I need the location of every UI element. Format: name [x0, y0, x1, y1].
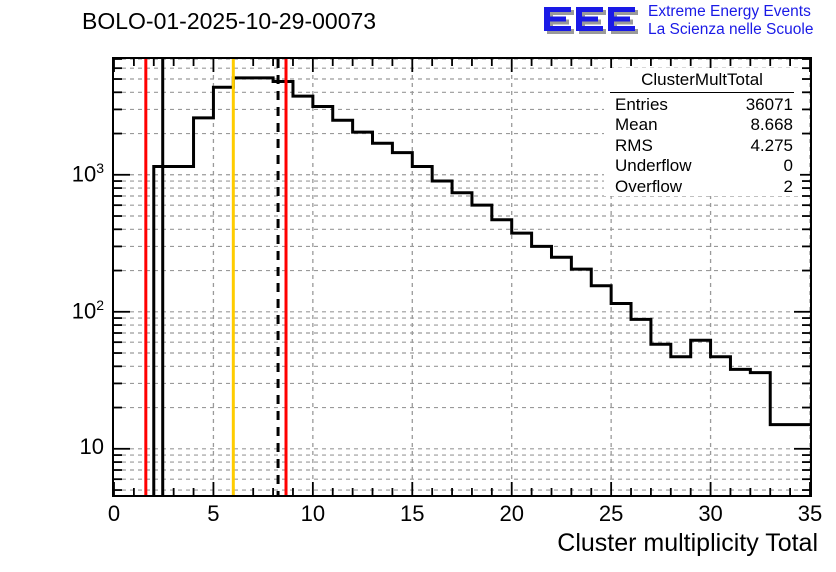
stats-value: 4.275 [750, 136, 793, 157]
eee-logo: Extreme Energy Events La Scienza nelle S… [543, 2, 833, 44]
x-axis-title: Cluster multiplicity Total [557, 529, 818, 558]
eee-logo-line1: Extreme Energy Events [648, 3, 813, 21]
stats-key: Entries [615, 95, 668, 116]
stats-value: 2 [784, 177, 793, 198]
x-tick-label-10: 10 [283, 501, 343, 527]
x-tick-label-0: 0 [84, 501, 144, 527]
stats-row-entries: Entries36071 [604, 95, 800, 116]
x-tick-label-25: 25 [581, 501, 641, 527]
x-tick-label-30: 30 [681, 501, 741, 527]
y-tick-label-1000: 103 [20, 160, 104, 187]
stats-key: RMS [615, 136, 653, 157]
eee-logo-line2: La Scienza nelle Scuole [648, 21, 813, 39]
x-tick-label-20: 20 [482, 501, 542, 527]
stats-rows: Entries36071Mean8.668RMS4.275Underflow0O… [604, 95, 800, 198]
stats-value: 36071 [746, 95, 793, 116]
x-tick-label-15: 15 [382, 501, 442, 527]
stats-key: Underflow [615, 156, 692, 177]
eee-logo-mark [543, 2, 643, 40]
stats-row-rms: RMS4.275 [604, 136, 800, 157]
stats-value: 0 [784, 156, 793, 177]
stats-row-overflow: Overflow2 [604, 177, 800, 198]
stats-key: Overflow [615, 177, 682, 198]
stats-row-mean: Mean8.668 [604, 115, 800, 136]
stats-value: 8.668 [750, 115, 793, 136]
y-tick-label-10: 10 [20, 434, 104, 460]
root-canvas: BOLO-01-2025-10-29-00073 Extreme Energy … [0, 0, 836, 572]
stats-title: ClusterMultTotal [610, 68, 794, 93]
stats-key: Mean [615, 115, 658, 136]
x-tick-label-35: 35 [780, 501, 836, 527]
page-title: BOLO-01-2025-10-29-00073 [82, 8, 376, 35]
y-tick-label-100: 102 [20, 297, 104, 324]
eee-logo-text: Extreme Energy Events La Scienza nelle S… [648, 3, 813, 39]
stats-row-underflow: Underflow0 [604, 156, 800, 177]
x-tick-label-5: 5 [183, 501, 243, 527]
stats-box: ClusterMultTotal Entries36071Mean8.668RM… [604, 68, 800, 196]
